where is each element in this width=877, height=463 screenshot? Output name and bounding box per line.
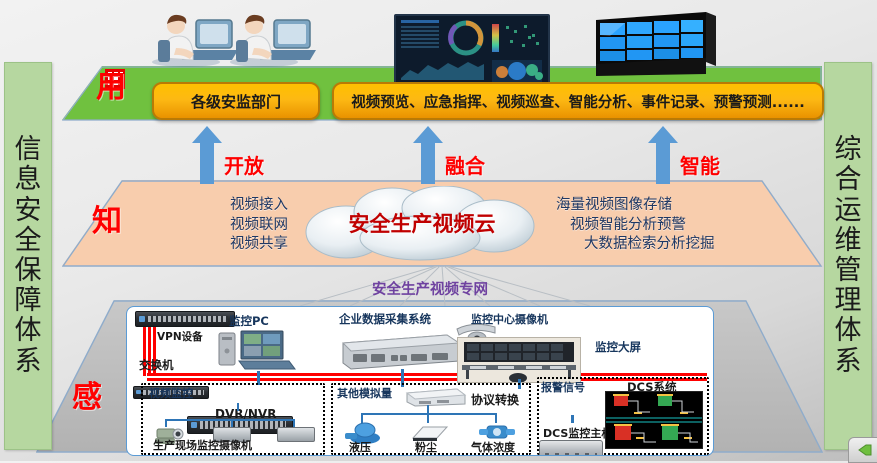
sensor-label-gas: 气体浓度 xyxy=(471,439,515,455)
arrow-open xyxy=(192,126,222,188)
cloud-right-item-1: 海量视频图像存储 xyxy=(556,196,786,216)
link-sensor-bus xyxy=(361,413,497,415)
device-label-video-wall: 监控大屏 xyxy=(595,339,641,355)
private-network-label: 安全生产视频专网 xyxy=(300,278,560,299)
data-collection-server-icon xyxy=(337,329,463,371)
sensor-label-hydraulic: 液压 xyxy=(349,439,371,455)
protocol-converter-icon xyxy=(403,387,467,407)
infrastructure-panel: VPN设备 交换机 监控PC 企业数据采集系统 xyxy=(126,306,714,456)
sensor-label-dust: 粉尘 xyxy=(415,439,437,455)
device-label-data-collection: 企业数据采集系统 xyxy=(339,311,431,327)
stage-label-perception: 感 xyxy=(72,372,102,416)
button-platform-functions[interactable]: 视频预览、应急指挥、视频巡查、智能分析、事件记录、预警预测...... xyxy=(332,82,824,120)
cloud-capabilities-right: 海量视频图像存储 视频智能分析预警 大数据检索分析挖掘 xyxy=(556,196,786,255)
monitor-pc-icon xyxy=(217,329,297,371)
dcs-hmi-screen xyxy=(605,391,703,449)
link-converter-trunk xyxy=(427,405,429,413)
link-dcs-host xyxy=(571,415,574,423)
link-cam2 xyxy=(231,419,233,427)
left-banner-information-security: 信息安全保障体系 xyxy=(4,62,52,450)
arrow-label-fusion: 融合 xyxy=(445,150,485,179)
cloud-left-item-1: 视频接入 xyxy=(120,196,288,216)
group-title-alarm-signal: 报警信号 xyxy=(541,379,585,395)
group-caption-site-cameras: 生产现场监控摄像机 xyxy=(153,437,252,453)
arrow-label-intelligent: 智能 xyxy=(680,150,720,179)
device-label-monitor-pc: 监控PC xyxy=(229,313,269,329)
group-device-dcs-host: DCS监控主机 xyxy=(543,425,612,441)
arrow-fusion xyxy=(413,126,443,188)
device-label-switch: 交换机 xyxy=(139,357,174,373)
group-device-protocol-converter: 协议转换 xyxy=(471,391,519,408)
bus-line-horizontal-1 xyxy=(147,373,707,376)
link-cam3 xyxy=(293,419,295,427)
cloud-right-item-2: 视频智能分析预警 xyxy=(556,216,786,236)
cloud-capabilities-left: 视频接入 视频联网 视频共享 xyxy=(120,196,288,255)
corner-widget-icon[interactable] xyxy=(848,437,877,463)
link-dvr-trunk xyxy=(237,403,239,411)
right-banner-text: 综合运维管理体系 xyxy=(835,135,862,377)
left-banner-text: 信息安全保障体系 xyxy=(15,135,42,377)
operators-at-computers-icon xyxy=(146,10,318,70)
dcs-host-icon xyxy=(539,440,603,456)
cloud-left-item-3: 视频共享 xyxy=(120,235,288,255)
cloud-left-item-2: 视频联网 xyxy=(120,216,288,236)
video-wall-icon xyxy=(596,12,722,76)
vpn-device-icon xyxy=(135,311,235,327)
analytics-dashboard-screen-icon xyxy=(394,14,550,88)
group-title-video-surveillance: 视频监控 xyxy=(149,385,193,401)
device-label-vpn: VPN设备 xyxy=(157,329,203,344)
green-arrow-icon xyxy=(856,444,872,456)
stage-label-cognition: 知 xyxy=(92,196,122,240)
button-safety-departments[interactable]: 各级安监部门 xyxy=(152,82,320,120)
cloud-right-item-3: 大数据检索分析挖掘 xyxy=(556,235,786,255)
cloud-label-video-cloud: 安全生产视频云 xyxy=(288,208,556,238)
group-title-analog-signals: 其他模拟量 xyxy=(337,385,392,401)
right-banner-operations-management: 综合运维管理体系 xyxy=(824,62,872,450)
link-dvr-bus xyxy=(165,419,295,421)
diagram-canvas: 信息安全保障体系 综合运维管理体系 xyxy=(0,0,877,461)
bullet-camera-2-icon xyxy=(277,427,315,442)
arrow-label-open: 开放 xyxy=(224,150,264,179)
stage-label-application: 用 xyxy=(96,62,126,106)
arrow-intelligent xyxy=(648,126,678,188)
